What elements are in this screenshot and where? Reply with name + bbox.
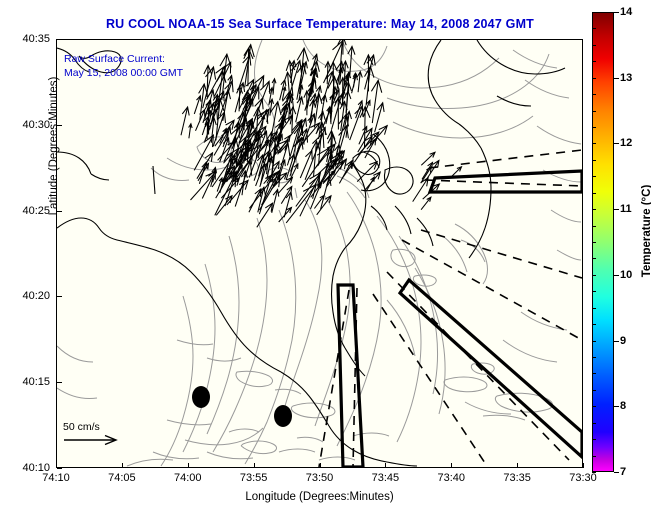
colorbar-tick-label: 12 — [620, 137, 632, 149]
current-vector — [327, 62, 328, 85]
station-marker-2 — [274, 405, 292, 427]
page-title: RU COOL NOAA-15 Sea Surface Temperature:… — [56, 17, 584, 31]
colorbar-minor-tick — [592, 226, 596, 227]
colorbar-minor-tick — [592, 308, 596, 309]
x-tick-label: 73:50 — [306, 472, 334, 484]
current-vector — [286, 185, 316, 223]
x-tick-label: 73:30 — [569, 472, 597, 484]
colorbar-minor-tick — [592, 390, 596, 391]
colorbar-minor-tick — [592, 209, 596, 210]
colorbar-axis-label: Temperature (°C) — [641, 151, 651, 311]
y-tick-label: 40:20 — [4, 290, 50, 302]
scale-bar-arrow-icon — [63, 434, 119, 446]
colorbar-minor-tick — [592, 423, 596, 424]
colorbar-minor-tick — [592, 456, 596, 457]
current-vector — [300, 176, 320, 217]
colorbar-minor-tick — [592, 28, 596, 29]
y-tick-mark — [57, 382, 62, 383]
current-vector — [421, 197, 431, 210]
current-vector — [350, 106, 363, 140]
cloud-mask-contours — [57, 40, 581, 466]
station-markers — [192, 386, 292, 427]
colorbar-minor-tick — [592, 45, 596, 46]
y-tick-label: 40:30 — [4, 119, 50, 131]
colorbar-minor-tick — [592, 176, 596, 177]
current-vector — [216, 196, 232, 216]
colorbar-tick-label: 14 — [620, 6, 632, 18]
current-vector-head — [265, 203, 272, 212]
y-tick-mark — [57, 296, 62, 297]
surface-current-vectors — [181, 40, 462, 227]
x-tick-mark — [451, 463, 452, 468]
y-tick-label: 40:15 — [4, 376, 50, 388]
x-tick-mark — [583, 463, 584, 468]
x-tick-label: 73:55 — [240, 472, 268, 484]
figure-canvas: RU COOL NOAA-15 Sea Surface Temperature:… — [0, 0, 651, 519]
colorbar-tick-mark — [614, 472, 619, 473]
x-tick-mark — [122, 463, 123, 468]
colorbar-tick-mark — [614, 209, 619, 210]
colorbar-tick-mark — [614, 341, 619, 342]
x-tick-label: 74:00 — [174, 472, 202, 484]
colorbar-tick-mark — [614, 78, 619, 79]
station-marker-1 — [192, 386, 210, 408]
colorbar-minor-tick — [592, 439, 596, 440]
y-tick-label: 40:25 — [4, 205, 50, 217]
map-graphics — [57, 40, 582, 467]
colorbar-minor-tick — [592, 78, 596, 79]
x-tick-label: 73:45 — [372, 472, 400, 484]
x-tick-mark — [385, 463, 386, 468]
colorbar-tick-label: 7 — [620, 466, 626, 478]
colorbar-tick-label: 10 — [620, 269, 632, 281]
colorbar-minor-tick — [592, 406, 596, 407]
y-tick-label: 40:10 — [4, 462, 50, 474]
colorbar-minor-tick — [592, 373, 596, 374]
colorbar-minor-tick — [592, 275, 596, 276]
x-tick-mark — [188, 463, 189, 468]
colorbar-minor-tick — [592, 143, 596, 144]
map-plot-area[interactable]: Raw Surface Current: May 15, 2008 00:00 … — [56, 39, 583, 468]
current-vector — [333, 62, 334, 96]
colorbar-minor-tick — [592, 127, 596, 128]
colorbar-minor-tick — [592, 160, 596, 161]
current-vector — [300, 151, 312, 178]
x-tick-label: 73:35 — [503, 472, 531, 484]
scale-bar: 50 cm/s — [63, 421, 119, 449]
colorbar-tick-label: 8 — [620, 400, 626, 412]
colorbar-tick-mark — [614, 406, 619, 407]
current-vector — [342, 163, 353, 179]
x-axis-label: Longitude (Degrees:Minutes) — [56, 491, 583, 503]
x-tick-label: 74:05 — [108, 472, 136, 484]
current-vector — [359, 127, 367, 145]
current-vector — [207, 122, 208, 138]
current-vector — [196, 110, 205, 131]
colorbar-tick-label: 13 — [620, 72, 632, 84]
y-tick-label: 40:35 — [4, 33, 50, 45]
current-vector — [421, 152, 435, 165]
colorbar-tick-label: 11 — [620, 203, 632, 215]
colorbar-minor-tick — [592, 94, 596, 95]
x-tick-label: 73:40 — [437, 472, 465, 484]
colorbar-minor-tick — [592, 242, 596, 243]
colorbar-minor-tick — [592, 193, 596, 194]
colorbar-minor-tick — [592, 341, 596, 342]
colorbar-minor-tick — [592, 61, 596, 62]
scale-bar-label: 50 cm/s — [63, 421, 119, 433]
colorbar-minor-tick — [592, 472, 596, 473]
colorbar-minor-tick — [592, 324, 596, 325]
colorbar-tick-mark — [614, 275, 619, 276]
current-vector — [248, 49, 249, 87]
x-tick-mark — [517, 463, 518, 468]
colorbar-minor-tick — [592, 291, 596, 292]
colorbar-minor-tick — [592, 258, 596, 259]
current-vector — [413, 178, 428, 202]
x-tick-mark — [254, 463, 255, 468]
x-tick-mark — [320, 463, 321, 468]
y-axis-label: Latitude (Degrees:Minutes) — [48, 36, 60, 256]
colorbar-tick-mark — [614, 143, 619, 144]
colorbar-tick-mark — [614, 12, 619, 13]
colorbar-minor-tick — [592, 111, 596, 112]
colorbar-minor-tick — [592, 12, 596, 13]
current-vector — [372, 80, 378, 123]
y-tick-mark — [57, 468, 62, 469]
colorbar-minor-tick — [592, 357, 596, 358]
colorbar-tick-label: 9 — [620, 335, 626, 347]
